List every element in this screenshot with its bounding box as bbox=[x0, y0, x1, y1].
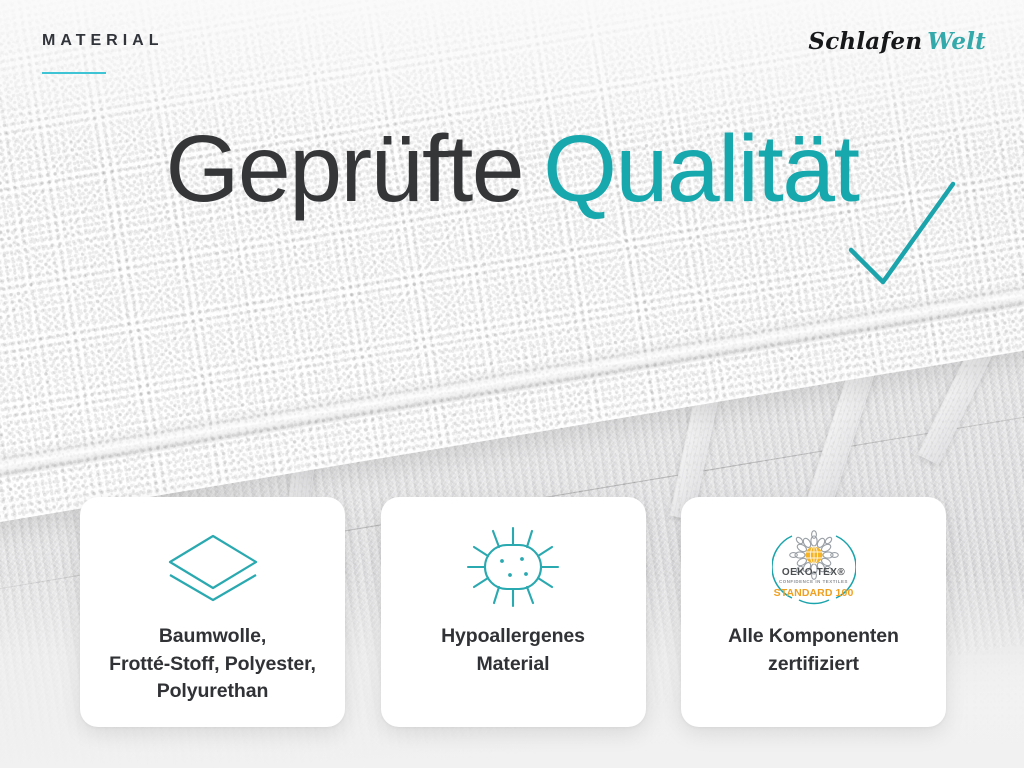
card-icon-slot bbox=[466, 525, 560, 609]
feature-card-hypoallergenic[interactable]: Hypoallergenes Material bbox=[381, 497, 646, 727]
card-icon-slot: OEKO-TEX® CONFIDENCE IN TEXTILES STANDAR… bbox=[772, 525, 856, 609]
brand-logo-secondary: Welt bbox=[927, 28, 986, 55]
eyebrow-underline bbox=[42, 72, 106, 74]
feature-card-material[interactable]: Baumwolle, Frotté-Stoff, Polyester, Poly… bbox=[80, 497, 345, 727]
brand-logo-primary: Schlafen bbox=[808, 28, 922, 55]
layers-icon bbox=[165, 531, 261, 603]
feature-card-label: Hypoallergenes Material bbox=[441, 623, 585, 678]
oeko-tex-name: OEKO-TEX® bbox=[772, 567, 856, 578]
feature-card-certified[interactable]: OEKO-TEX® CONFIDENCE IN TEXTILES STANDAR… bbox=[681, 497, 946, 727]
check-icon bbox=[845, 178, 960, 288]
eyebrow-label: MATERIAL bbox=[42, 32, 163, 50]
oeko-tex-standard: STANDARD 100 bbox=[772, 587, 856, 599]
microbe-icon bbox=[466, 525, 560, 609]
headline-part-accent: Qualität bbox=[543, 116, 858, 222]
feature-card-label: Baumwolle, Frotté-Stoff, Polyester, Poly… bbox=[109, 623, 316, 706]
card-icon-slot bbox=[165, 525, 261, 609]
brand-logo: SchlafenWelt bbox=[808, 28, 986, 55]
oeko-tex-standard-100-badge: OEKO-TEX® CONFIDENCE IN TEXTILES STANDAR… bbox=[772, 527, 856, 607]
oeko-tex-tagline: CONFIDENCE IN TEXTILES bbox=[772, 579, 856, 584]
infographic-canvas: MATERIAL SchlafenWelt GeprüfteQualität B… bbox=[0, 0, 1024, 768]
feature-card-list: Baumwolle, Frotté-Stoff, Polyester, Poly… bbox=[80, 497, 946, 727]
feature-card-label: Alle Komponenten zertifiziert bbox=[728, 623, 899, 678]
headline-part-dark: Geprüfte bbox=[165, 116, 523, 222]
